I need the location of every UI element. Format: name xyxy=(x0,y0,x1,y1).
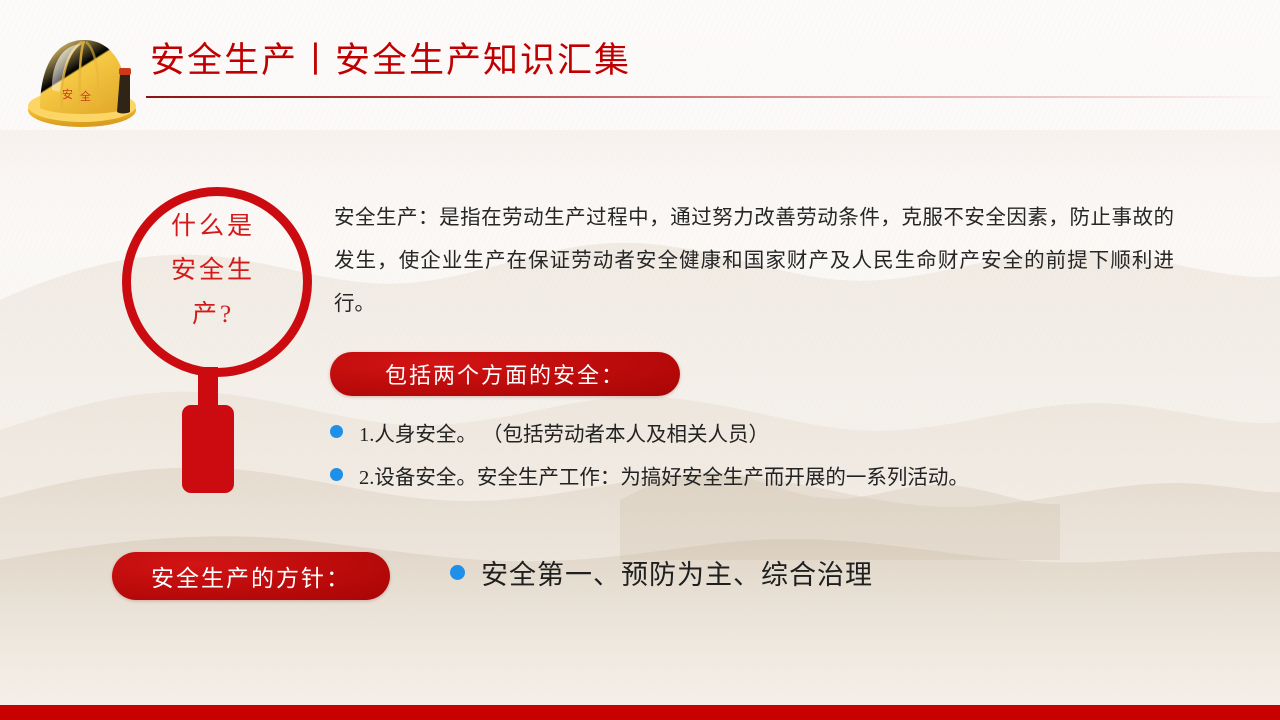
magnifier-line-3: 产? xyxy=(134,293,292,337)
list-item: 2.设备安全。安全生产工作：为搞好安全生产而开展的一系列活动。 xyxy=(330,457,1190,500)
list-item-label: 1.人身安全。 （包括劳动者本人及相关人员） xyxy=(359,414,769,457)
magnifier-line-2: 安全生 xyxy=(134,249,292,293)
policy-statement: 安全第一、预防为主、综合治理 xyxy=(450,553,873,592)
aspects-bullet-list: 1.人身安全。 （包括劳动者本人及相关人员） 2.设备安全。安全生产工作：为搞好… xyxy=(330,414,1190,500)
list-item: 1.人身安全。 （包括劳动者本人及相关人员） xyxy=(330,414,1190,457)
bottom-accent-bar xyxy=(0,705,1280,720)
page-title: 安全生产丨安全生产知识汇集 xyxy=(150,39,631,83)
policy-badge: 安全生产的方针： xyxy=(112,552,390,600)
policy-statement-label: 安全第一、预防为主、综合治理 xyxy=(481,553,873,592)
definition-paragraph: 安全生产：是指在劳动生产过程中，通过努力改善劳动条件，克服不安全因素，防止事故的… xyxy=(334,197,1174,326)
magnifier-icon: 什么是 安全生 产? xyxy=(118,183,314,493)
slide-header: 安 全 安全生产丨安全生产知识汇集 xyxy=(0,0,1280,140)
list-item-label: 2.设备安全。安全生产工作：为搞好安全生产而开展的一系列活动。 xyxy=(359,457,969,500)
bullet-dot-icon xyxy=(330,468,343,481)
slide-canvas: 安 全 安全生产丨安全生产知识汇集 什么是 安全生 产? 安全生产：是指在劳动生… xyxy=(0,0,1280,720)
svg-text:全: 全 xyxy=(80,89,91,103)
svg-text:安: 安 xyxy=(62,87,73,101)
magnifier-line-1: 什么是 xyxy=(134,205,292,249)
magnifier-question-text: 什么是 安全生 产? xyxy=(134,205,292,337)
bullet-dot-icon xyxy=(450,565,465,580)
safety-helmet-icon: 安 全 xyxy=(24,28,146,132)
magnifier-handle-grip xyxy=(182,405,234,493)
bullet-dot-icon xyxy=(330,425,343,438)
header-divider xyxy=(146,96,1280,98)
aspects-badge: 包括两个方面的安全： xyxy=(330,352,680,396)
